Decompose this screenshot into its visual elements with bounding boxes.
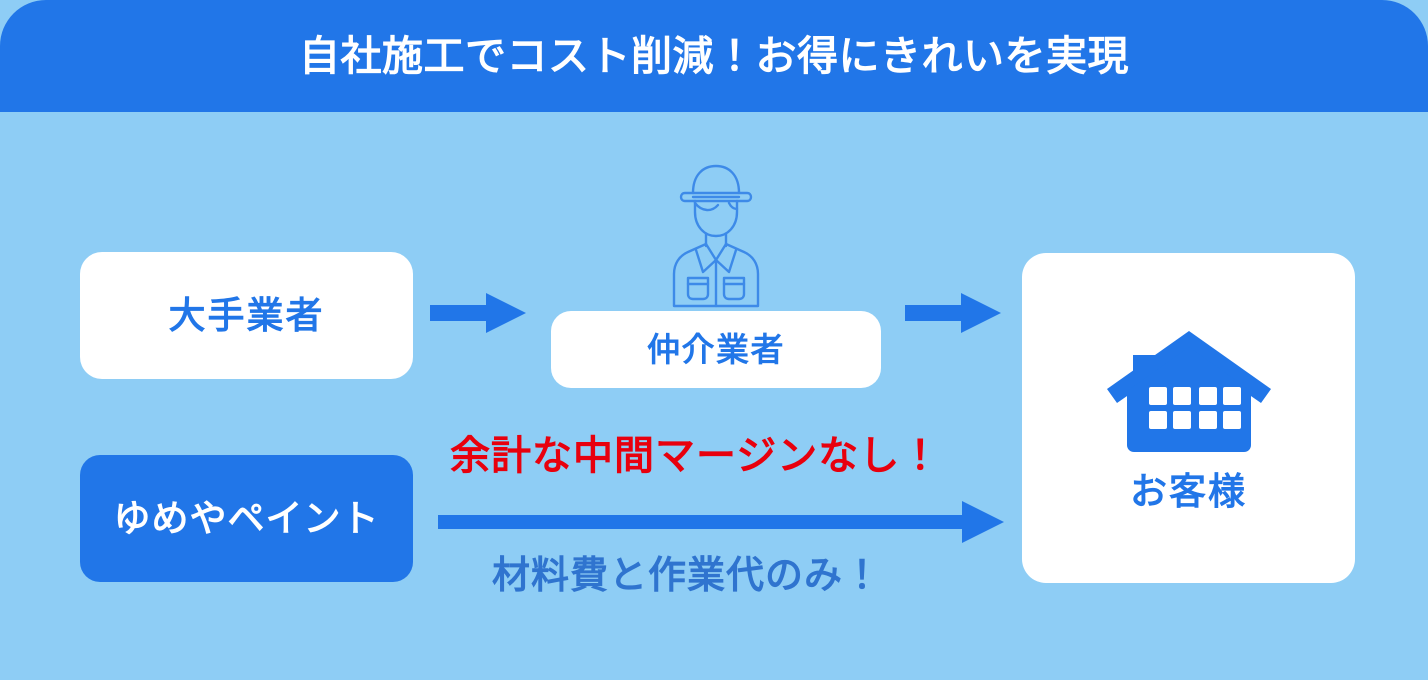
card-customer: お客様 (1022, 253, 1355, 583)
card-own-company: ゆめやペイント (80, 455, 413, 582)
infographic-canvas: 自社施工でコスト削減！お得にきれいを実現 大手業者 (0, 0, 1428, 680)
arrow-right-icon (905, 291, 1001, 335)
arrow-right-long-icon (438, 498, 1004, 546)
no-middle-margin-text: 余計な中間マージンなし！ (450, 436, 941, 476)
arrow-right-icon (430, 291, 526, 335)
card-broker: 仲介業者 (551, 311, 881, 388)
card-major-contractor: 大手業者 (80, 252, 413, 379)
card-broker-label: 仲介業者 (647, 333, 785, 366)
card-major-contractor-label: 大手業者 (169, 297, 325, 334)
card-customer-label: お客様 (1130, 473, 1247, 510)
materials-and-labor-only-text: 材料費と作業代のみ！ (492, 556, 882, 594)
header-banner: 自社施工でコスト削減！お得にきれいを実現 (0, 0, 1428, 112)
construction-worker-icon (656, 160, 776, 312)
house-icon (1103, 327, 1275, 459)
page-title: 自社施工でコスト削減！お得にきれいを実現 (299, 36, 1129, 77)
card-own-company-label: ゆめやペイント (114, 500, 380, 537)
